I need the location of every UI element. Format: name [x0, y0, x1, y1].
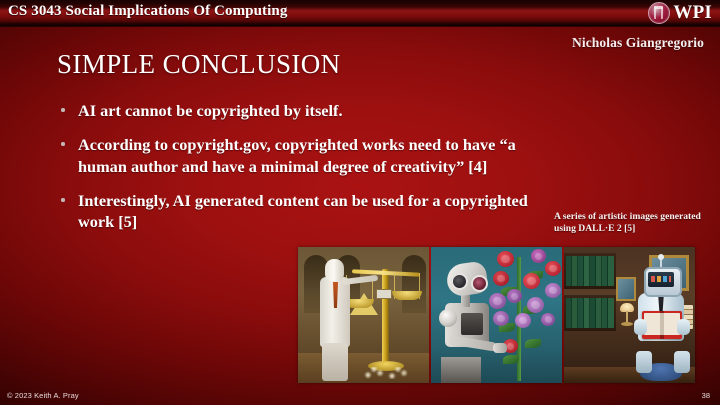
- presentation-slide: CS 3043 Social Implications Of Computing…: [0, 0, 720, 405]
- art-panel-robot-with-roses: [431, 247, 562, 383]
- rose-shape: [497, 251, 514, 267]
- robot-legs-shape: [322, 343, 348, 381]
- bullet-list: AI art cannot be copyrighted by itself. …: [58, 100, 528, 246]
- presenter-name: Nicholas Giangregorio: [572, 35, 704, 51]
- books-shape: [566, 256, 614, 286]
- rose-shape: [545, 261, 561, 276]
- figure-caption: A series of artistic images generated us…: [554, 211, 716, 235]
- course-title: CS 3043 Social Implications Of Computing: [8, 3, 287, 20]
- robot-leg-shape: [674, 351, 690, 373]
- rose-shape: [493, 271, 509, 286]
- rose-shape: [493, 311, 509, 326]
- robot-shoulder-shape: [439, 309, 457, 327]
- books-shape: [566, 298, 614, 328]
- framed-picture-shape: [616, 277, 636, 301]
- wpi-logo: WPI: [648, 1, 712, 25]
- wpi-logo-text: WPI: [673, 3, 712, 23]
- rose-shape: [489, 293, 506, 309]
- open-book-shape: [642, 311, 682, 339]
- robot-face-screen-shape: [648, 272, 674, 287]
- bullet-dot-icon: [61, 198, 65, 202]
- robot-eye-shape: [451, 273, 468, 290]
- robot-hand-shape: [677, 319, 690, 335]
- rose-shape: [507, 289, 522, 303]
- robot-head-shape: [325, 259, 344, 281]
- sign-shape: [376, 289, 392, 299]
- scale-post-shape: [382, 269, 389, 365]
- bullet-dot-icon: [61, 142, 65, 146]
- list-item: Interestingly, AI generated content can …: [58, 190, 528, 233]
- robot-eye-shape: [471, 275, 488, 292]
- lamp-base-shape: [621, 322, 633, 326]
- list-item-text: According to copyright.gov, copyrighted …: [78, 135, 516, 175]
- rose-shape: [545, 283, 561, 298]
- wpi-seal-icon: [648, 2, 670, 24]
- bullet-dot-icon: [61, 108, 65, 112]
- rose-shape: [541, 313, 555, 326]
- art-panel-robot-with-scales: [298, 247, 429, 383]
- art-panel-robot-reading-book: [564, 247, 695, 383]
- leaf-shape: [525, 339, 541, 348]
- robot-base-shape: [441, 357, 481, 383]
- rose-shape: [515, 313, 531, 328]
- rose-shape: [523, 273, 540, 289]
- scale-pan-shape: [392, 291, 422, 300]
- list-item: According to copyright.gov, copyrighted …: [58, 134, 528, 177]
- robot-hand-shape: [493, 343, 507, 353]
- list-item: AI art cannot be copyrighted by itself.: [58, 100, 528, 121]
- figure-image-triptych: [298, 247, 695, 383]
- robot-chest-panel-shape: [461, 313, 483, 335]
- coins-shape: [360, 367, 416, 379]
- rose-shape: [527, 297, 544, 313]
- list-item-text: AI art cannot be copyrighted by itself.: [78, 101, 343, 120]
- robot-hand-shape: [634, 319, 647, 335]
- page-title: SIMPLE CONCLUSION: [57, 49, 341, 80]
- list-item-text: Interestingly, AI generated content can …: [78, 191, 528, 231]
- footer-copyright: © 2023 Keith A. Pray: [7, 391, 79, 400]
- leaf-shape: [503, 355, 519, 364]
- rose-shape: [531, 249, 546, 263]
- footer-page-number: 38: [702, 391, 710, 400]
- arch-shape: [402, 255, 426, 313]
- robot-leg-shape: [636, 351, 652, 373]
